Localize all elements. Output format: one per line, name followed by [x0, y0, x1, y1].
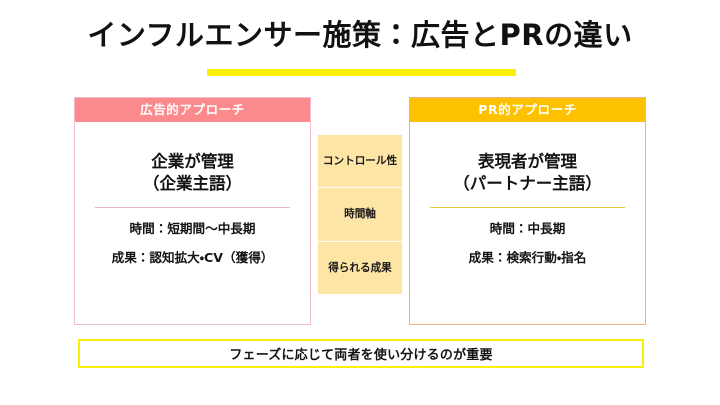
panel-ad-facts: 時間：短期間〜中長期 成果：認知拡大・CV（獲得） — [91, 221, 294, 266]
comparison-axis-column: コントロール性 時間軸 得られる成果 — [318, 135, 402, 294]
slide-canvas: インフルエンサー施策：広告とPRの違い 広告的アプローチ 企業が管理 （企業主語… — [0, 0, 720, 405]
axis-label-outcome: 得られる成果 — [318, 241, 402, 294]
panel-pr-heading-line2: （パートナー主語） — [426, 173, 629, 195]
title-block: インフルエンサー施策：広告とPRの違い — [0, 18, 720, 53]
panel-ad-fact-time: 時間：短期間〜中長期 — [91, 221, 294, 237]
panel-ad-fact-result: 成果：認知拡大・CV（獲得） — [91, 250, 294, 266]
panel-pr-facts: 時間：中長期 成果：検索行動・指名 — [426, 221, 629, 266]
panel-ad-divider — [95, 207, 290, 208]
summary-banner: フェーズに応じて両者を使い分けるのが重要 — [78, 339, 644, 368]
page-title: インフルエンサー施策：広告とPRの違い — [0, 18, 720, 53]
axis-label-timeframe: 時間軸 — [318, 187, 402, 240]
panel-ad-header: 広告的アプローチ — [75, 98, 310, 122]
panel-pr-header: PR的アプローチ — [410, 98, 645, 122]
panel-pr-approach: PR的アプローチ 表現者が管理 （パートナー主語） 時間：中長期 成果：検索行動… — [409, 97, 646, 325]
panel-ad-approach: 広告的アプローチ 企業が管理 （企業主語） 時間：短期間〜中長期 成果：認知拡大… — [74, 97, 311, 325]
panel-pr-fact-result: 成果：検索行動・指名 — [426, 250, 629, 266]
panel-ad-heading-line1: 企業が管理 — [91, 151, 294, 173]
axis-label-controllability: コントロール性 — [318, 135, 402, 187]
panel-ad-heading: 企業が管理 （企業主語） — [91, 151, 294, 195]
title-accent-bar — [207, 69, 516, 76]
panel-pr-divider — [430, 207, 625, 208]
panel-pr-heading-line1: 表現者が管理 — [426, 151, 629, 173]
panel-pr-body: 表現者が管理 （パートナー主語） 時間：中長期 成果：検索行動・指名 — [410, 151, 645, 266]
panel-ad-body: 企業が管理 （企業主語） 時間：短期間〜中長期 成果：認知拡大・CV（獲得） — [75, 151, 310, 266]
panel-pr-fact-time: 時間：中長期 — [426, 221, 629, 237]
panel-ad-heading-line2: （企業主語） — [91, 173, 294, 195]
summary-banner-text: フェーズに応じて両者を使い分けるのが重要 — [229, 344, 492, 363]
panel-pr-heading: 表現者が管理 （パートナー主語） — [426, 151, 629, 195]
